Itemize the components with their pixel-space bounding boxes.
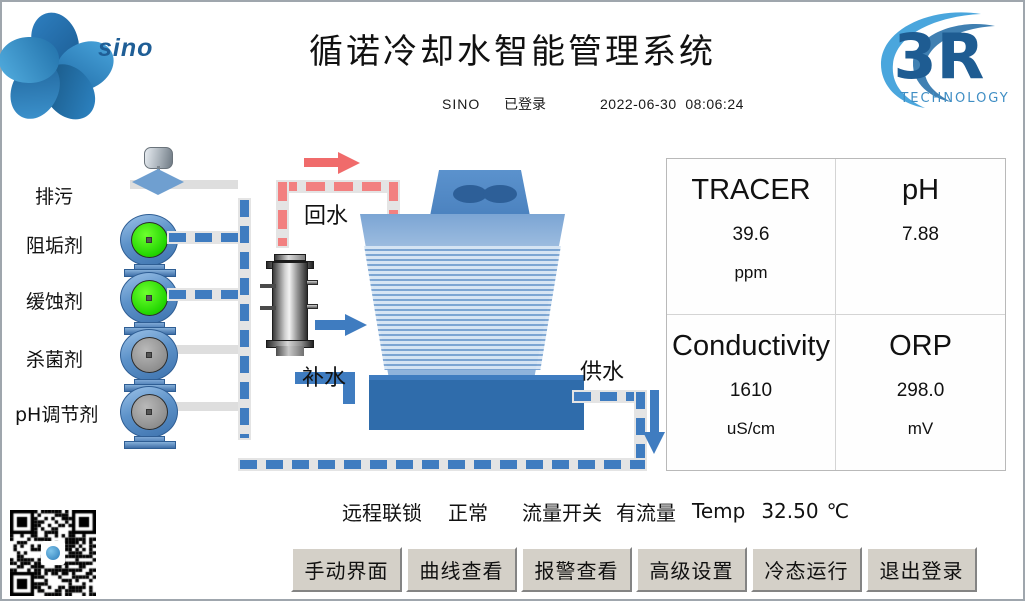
measurement-value: 1610 (730, 380, 772, 402)
status-row: 远程联锁 正常 流量开关 有流量 Temp 32.50 ℃ (342, 495, 849, 527)
datetime: 2022-06-30 08:06:24 (600, 96, 744, 112)
tower-fill-louvers (360, 246, 565, 370)
blowdown-valve[interactable] (122, 147, 194, 195)
valve-wing-right (158, 169, 184, 195)
measurement-orp: ORP 298.0 mV (836, 315, 1005, 471)
qr-code[interactable] (10, 510, 96, 596)
dosing-riser-line (240, 200, 249, 438)
flow-switch-label: 流量开关 (522, 497, 602, 526)
flow-switch-value: 有流量 (616, 497, 676, 526)
logout-button[interactable]: 退出登录 (866, 547, 977, 592)
measurement-unit: ppm (734, 263, 767, 283)
measurement-name: pH (902, 172, 939, 208)
supply-down-arrow-shaft (650, 390, 659, 434)
pump-scale-inhibitor[interactable] (120, 214, 182, 276)
pump-ph-adjuster[interactable] (120, 386, 182, 448)
measurement-value: 298.0 (897, 380, 945, 402)
pump-hub (146, 352, 152, 358)
login-state: 已登录 (504, 94, 600, 114)
return-line-down (278, 182, 287, 246)
valve-wing-left (132, 169, 158, 195)
qr-logo-mark (46, 546, 60, 560)
supply-down-arrow-head (643, 432, 665, 454)
cold-start-button[interactable]: 冷态运行 (751, 547, 862, 592)
measurement-unit: mV (908, 419, 934, 439)
fan-icon (453, 182, 517, 206)
measurement-name: ORP (889, 328, 952, 364)
3r-sub: TECHNOLOGY (899, 91, 1009, 106)
supply-arrow-shaft (315, 320, 347, 330)
temp-unit: ℃ (827, 499, 849, 523)
session-bar: SINO 已登录 2022-06-30 08:06:24 (442, 93, 872, 115)
label-supply-water: 供水 (580, 354, 624, 386)
3r-technology-logo: 3R TECHNOLOGY (863, 4, 1013, 116)
hx-nozzle-right-lower (306, 304, 318, 309)
measurement-panel: TRACER 39.6 ppm pH 7.88 Conductivity 161… (666, 158, 1006, 471)
measurement-unit: uS/cm (727, 419, 775, 439)
label-blowdown: 排污 (35, 182, 73, 209)
return-arrow-shaft (304, 158, 340, 167)
pump-hub (146, 295, 152, 301)
label-return-water: 回水 (304, 198, 348, 230)
measurement-ph: pH 7.88 (836, 159, 1005, 315)
hx-nozzle-left-lower (260, 306, 276, 310)
trend-view-button[interactable]: 曲线查看 (406, 547, 517, 592)
qr-center-logo (41, 541, 65, 565)
remote-interlock-value: 正常 (448, 497, 488, 526)
manual-interface-button[interactable]: 手动界面 (291, 547, 402, 592)
measurement-name: TRACER (691, 172, 810, 208)
advanced-settings-button[interactable]: 高级设置 (636, 547, 747, 592)
measurement-tracer: TRACER 39.6 ppm (667, 159, 836, 315)
cooling-tower (347, 170, 552, 420)
label-makeup-water: 补水 (302, 360, 346, 392)
measurement-value: 7.88 (902, 224, 939, 246)
hx-top-flange (274, 254, 306, 261)
dosing-line-scale-inhibitor (169, 233, 245, 242)
scada-screen: sino 循诺冷却水智能管理系统 SINO 已登录 2022-06-30 08:… (0, 0, 1025, 601)
label-ph-adjuster: pH调节剂 (15, 400, 98, 427)
alarm-view-button[interactable]: 报警查看 (521, 547, 632, 592)
hx-base (276, 346, 304, 356)
hx-nozzle-left-upper (260, 284, 276, 288)
temp-label: Temp (692, 499, 745, 523)
pump-biocide[interactable] (120, 329, 182, 391)
heat-exchanger[interactable] (264, 250, 316, 362)
label-corrosion-inhibitor: 缓蚀剂 (26, 287, 83, 314)
user-name: SINO (442, 96, 504, 112)
label-scale-inhibitor: 阻垢剂 (26, 231, 83, 258)
measurement-value: 39.6 (733, 224, 770, 246)
pump-corrosion-inhibitor[interactable] (120, 272, 182, 334)
supply-line-right (636, 392, 645, 468)
measurement-conductivity: Conductivity 1610 uS/cm (667, 315, 836, 471)
hx-nozzle-right-upper (306, 280, 318, 285)
temp-value: 32.50 (761, 499, 818, 523)
dosing-line-corrosion-inhibitor (169, 290, 245, 299)
tower-basin (369, 380, 584, 430)
pump-base (124, 441, 176, 449)
3r-mark: 3R (894, 20, 985, 93)
hx-shell (272, 262, 308, 346)
remote-interlock-label: 远程联锁 (342, 497, 422, 526)
bottom-button-bar: 手动界面 曲线查看 报警查看 高级设置 冷态运行 退出登录 (291, 547, 977, 592)
pump-hub (146, 409, 152, 415)
measurement-name: Conductivity (672, 328, 830, 364)
pump-hub (146, 237, 152, 243)
label-biocide: 杀菌剂 (26, 345, 83, 372)
supply-line-bottom (240, 460, 645, 469)
